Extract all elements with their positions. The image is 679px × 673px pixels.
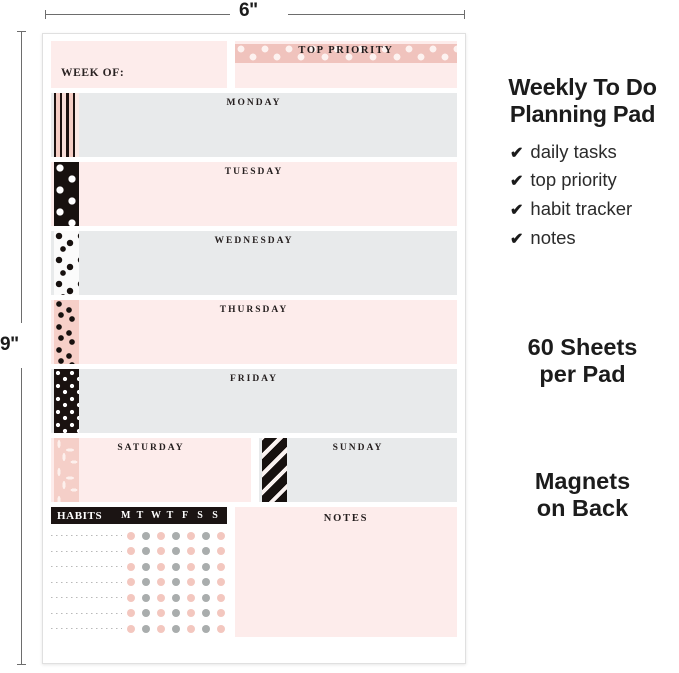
sheet-count-block: 60 Sheets per Pad bbox=[490, 334, 675, 389]
habit-row[interactable] bbox=[51, 621, 227, 637]
habit-dot[interactable] bbox=[172, 578, 180, 586]
habit-dot[interactable] bbox=[142, 578, 150, 586]
habit-dot[interactable] bbox=[202, 547, 210, 555]
habit-dot[interactable] bbox=[172, 563, 180, 571]
top-priority-block: TOP PRIORITY bbox=[235, 41, 457, 88]
habit-dot[interactable] bbox=[157, 563, 165, 571]
day-row-thursday: THURSDAY bbox=[51, 300, 457, 364]
day-label-tuesday: TUESDAY bbox=[51, 167, 457, 177]
habit-tracker-header: HABITS M T W T F S S bbox=[51, 507, 227, 524]
habit-dot[interactable] bbox=[217, 609, 225, 617]
habit-row[interactable] bbox=[51, 544, 227, 560]
habit-dot[interactable] bbox=[217, 578, 225, 586]
feature-list-item: ✔daily tasks bbox=[510, 138, 675, 167]
habit-day-columns: M T W T F S S bbox=[121, 510, 221, 521]
pad-bottom-row: HABITS M T W T F S S NOTES bbox=[51, 507, 457, 637]
magnets-line-2: on Back bbox=[490, 495, 675, 522]
habit-dot[interactable] bbox=[172, 625, 180, 633]
habit-dot[interactable] bbox=[172, 594, 180, 602]
product-title-line-2: Planning Pad bbox=[490, 101, 675, 128]
habit-dot[interactable] bbox=[172, 609, 180, 617]
habit-dot[interactable] bbox=[157, 594, 165, 602]
habit-dot[interactable] bbox=[202, 594, 210, 602]
habit-dot[interactable] bbox=[157, 625, 165, 633]
habit-dot[interactable] bbox=[142, 547, 150, 555]
height-dimension-line-bottom bbox=[21, 368, 22, 665]
habit-daycol-thu: T bbox=[166, 510, 174, 521]
habit-dot[interactable] bbox=[202, 609, 210, 617]
habit-dot[interactable] bbox=[172, 532, 180, 540]
width-dimension-line-left bbox=[45, 14, 230, 15]
habit-dot[interactable] bbox=[187, 547, 195, 555]
habit-daycol-wed: W bbox=[151, 510, 159, 521]
product-title: Weekly To Do Planning Pad bbox=[490, 74, 675, 129]
day-row-monday: MONDAY bbox=[51, 93, 457, 157]
habit-dot-group bbox=[127, 563, 227, 571]
magnets-block: Magnets on Back bbox=[490, 468, 675, 523]
habit-dot-group bbox=[127, 594, 227, 602]
habit-row[interactable] bbox=[51, 528, 227, 544]
check-icon: ✔ bbox=[510, 228, 523, 253]
habit-write-in-line[interactable] bbox=[51, 597, 122, 598]
habit-dot[interactable] bbox=[217, 594, 225, 602]
habit-dot[interactable] bbox=[187, 563, 195, 571]
feature-list-item: ✔habit tracker bbox=[510, 195, 675, 224]
habit-dot[interactable] bbox=[127, 578, 135, 586]
day-row-saturday: SATURDAY bbox=[51, 438, 251, 502]
width-dimension-line-right bbox=[288, 14, 465, 15]
habit-dot[interactable] bbox=[172, 547, 180, 555]
product-copy-panel: Weekly To Do Planning Pad ✔daily tasks✔t… bbox=[490, 74, 675, 253]
habit-dot-group bbox=[127, 547, 227, 555]
habit-row[interactable] bbox=[51, 606, 227, 622]
height-dimension-line-top bbox=[21, 31, 22, 323]
habit-daycol-mon: M bbox=[121, 510, 129, 521]
pad-header-row: WEEK OF: TOP PRIORITY bbox=[51, 41, 457, 88]
feature-label: top priority bbox=[530, 166, 616, 195]
top-priority-label: TOP PRIORITY bbox=[235, 45, 457, 56]
habit-dot[interactable] bbox=[217, 532, 225, 540]
height-dimension-label: 9" bbox=[0, 334, 19, 356]
habit-daycol-sun: S bbox=[211, 510, 219, 521]
habit-dot-group bbox=[127, 532, 227, 540]
habit-write-in-line[interactable] bbox=[51, 628, 122, 629]
day-label-friday: FRIDAY bbox=[51, 374, 457, 384]
habit-row[interactable] bbox=[51, 590, 227, 606]
feature-list-item: ✔notes bbox=[510, 224, 675, 253]
habit-dot-group bbox=[127, 578, 227, 586]
habit-dot[interactable] bbox=[202, 625, 210, 633]
notes-label: NOTES bbox=[235, 513, 457, 524]
habit-dot[interactable] bbox=[187, 625, 195, 633]
habit-dot[interactable] bbox=[157, 532, 165, 540]
habit-dot[interactable] bbox=[187, 609, 195, 617]
product-title-line-1: Weekly To Do bbox=[490, 74, 675, 101]
notes-block: NOTES bbox=[235, 507, 457, 637]
day-label-saturday: SATURDAY bbox=[51, 443, 251, 453]
day-label-wednesday: WEDNESDAY bbox=[51, 236, 457, 246]
feature-label: habit tracker bbox=[530, 195, 632, 224]
habit-row[interactable] bbox=[51, 575, 227, 591]
habit-dot[interactable] bbox=[142, 563, 150, 571]
width-dimension-label: 6" bbox=[239, 0, 258, 22]
day-row-wednesday: WEDNESDAY bbox=[51, 231, 457, 295]
habit-dot[interactable] bbox=[127, 532, 135, 540]
sheet-count-line-2: per Pad bbox=[490, 361, 675, 388]
habit-daycol-tue: T bbox=[136, 510, 144, 521]
habit-daycol-fri: F bbox=[181, 510, 189, 521]
day-row-friday: FRIDAY bbox=[51, 369, 457, 433]
feature-label: daily tasks bbox=[530, 138, 616, 167]
habit-write-in-line[interactable] bbox=[51, 535, 122, 536]
check-icon: ✔ bbox=[510, 199, 523, 224]
check-icon: ✔ bbox=[510, 142, 523, 167]
habit-dot[interactable] bbox=[217, 547, 225, 555]
habit-dot[interactable] bbox=[217, 625, 225, 633]
week-of-block: WEEK OF: bbox=[51, 41, 227, 88]
habit-dot-group bbox=[127, 625, 227, 633]
habit-tracker-title: HABITS bbox=[57, 510, 102, 522]
day-label-sunday: SUNDAY bbox=[259, 443, 457, 453]
day-row-tuesday: TUESDAY bbox=[51, 162, 457, 226]
feature-list-item: ✔top priority bbox=[510, 166, 675, 195]
habit-dot[interactable] bbox=[187, 578, 195, 586]
habit-dot[interactable] bbox=[127, 547, 135, 555]
habit-dot[interactable] bbox=[157, 578, 165, 586]
feature-list: ✔daily tasks✔top priority✔habit tracker✔… bbox=[490, 138, 675, 253]
habit-write-in-line[interactable] bbox=[51, 582, 122, 583]
habit-row[interactable] bbox=[51, 559, 227, 575]
habit-dot[interactable] bbox=[187, 532, 195, 540]
habit-dot[interactable] bbox=[127, 563, 135, 571]
day-row-sunday: SUNDAY bbox=[259, 438, 457, 502]
habit-dot[interactable] bbox=[142, 625, 150, 633]
habit-dot[interactable] bbox=[187, 594, 195, 602]
product-image: 6" 9" WEEK OF: TOP PRIORITY MONDAY TUESD… bbox=[0, 0, 679, 673]
habit-tracker: HABITS M T W T F S S bbox=[51, 507, 227, 637]
habit-dot[interactable] bbox=[142, 532, 150, 540]
habit-tracker-grid bbox=[51, 524, 227, 637]
habit-dot[interactable] bbox=[127, 625, 135, 633]
habit-daycol-sat: S bbox=[196, 510, 204, 521]
day-label-thursday: THURSDAY bbox=[51, 305, 457, 315]
sheet-count-line-1: 60 Sheets bbox=[490, 334, 675, 361]
habit-dot[interactable] bbox=[142, 609, 150, 617]
habit-write-in-line[interactable] bbox=[51, 551, 122, 552]
weekend-row: SATURDAY SUNDAY bbox=[51, 438, 457, 502]
habit-write-in-line[interactable] bbox=[51, 566, 122, 567]
habit-dot[interactable] bbox=[157, 547, 165, 555]
feature-label: notes bbox=[530, 224, 575, 253]
habit-dot[interactable] bbox=[157, 609, 165, 617]
habit-dot[interactable] bbox=[202, 563, 210, 571]
habit-dot[interactable] bbox=[142, 594, 150, 602]
habit-dot-group bbox=[127, 609, 227, 617]
day-label-monday: MONDAY bbox=[51, 98, 457, 108]
habit-write-in-line[interactable] bbox=[51, 613, 122, 614]
habit-dot[interactable] bbox=[127, 609, 135, 617]
habit-dot[interactable] bbox=[202, 532, 210, 540]
habit-dot[interactable] bbox=[127, 594, 135, 602]
check-icon: ✔ bbox=[510, 170, 523, 195]
week-of-label: WEEK OF: bbox=[61, 67, 124, 79]
habit-dot[interactable] bbox=[202, 578, 210, 586]
habit-dot[interactable] bbox=[217, 563, 225, 571]
magnets-line-1: Magnets bbox=[490, 468, 675, 495]
planner-pad: WEEK OF: TOP PRIORITY MONDAY TUESDAY WED… bbox=[42, 33, 466, 664]
